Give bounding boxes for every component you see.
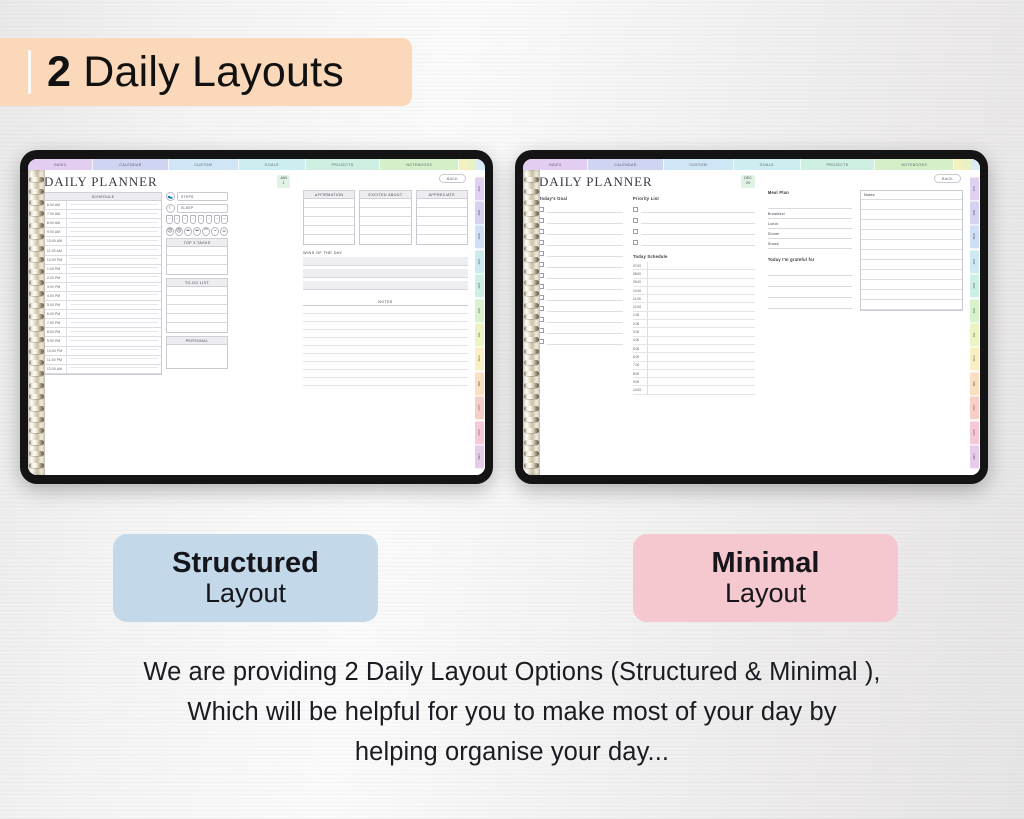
today-schedule-row[interactable]: 08.00 [633,270,755,278]
excited-about-rows[interactable] [359,199,411,245]
today-schedule-row[interactable]: 11.00 [633,295,755,303]
excited-about-row[interactable] [360,217,410,226]
schedule-write-line[interactable] [70,222,158,223]
grateful-line[interactable] [768,276,852,287]
schedule-write-line[interactable] [70,204,158,205]
tab-custom[interactable]: CUSTOM [169,159,239,170]
todays-goal-row[interactable] [539,204,623,215]
affirmation-rows[interactable] [303,199,355,245]
caption-paragraph: We are providing 2 Daily Layout Options … [0,652,1024,772]
today-schedule-time: 07.00 [633,262,648,269]
today-schedule-time: 1.00 [633,312,648,319]
today-schedule-row[interactable]: 10.00 [633,386,755,394]
schedule-write-line[interactable] [70,213,158,214]
today-schedule-time: 12.00 [633,303,648,310]
sleep-label[interactable]: SLEEP [177,204,228,213]
title-rest: Daily Layouts [71,48,344,96]
month-tab-dec[interactable]: DEC [475,445,484,468]
write-line[interactable] [547,295,623,301]
notes-line-minimal[interactable] [861,230,962,240]
schedule-row[interactable]: 10:00 PM [45,347,161,356]
grateful-line[interactable] [768,265,852,276]
excited-about-row[interactable] [360,226,410,235]
schedule-time: 10:00 PM [45,347,67,355]
write-line[interactable] [547,328,623,334]
write-line[interactable] [547,306,623,312]
schedule-write-line[interactable] [70,276,158,277]
write-line[interactable] [547,229,623,235]
notes-line[interactable] [303,314,468,322]
meal-lunch[interactable]: Lunch [768,219,852,229]
schedule-write-line[interactable] [70,322,158,323]
water-glass-icon[interactable] [182,215,189,224]
today-schedule-row[interactable]: 7.00 [633,362,755,370]
notes-rows[interactable] [303,306,468,386]
excited-about-row[interactable] [360,208,410,217]
meal-plan-top-line[interactable] [768,198,852,209]
today-schedule-time: 5.00 [633,345,648,352]
today-schedule-time: 09.00 [633,279,648,286]
excited-about-row[interactable] [360,199,410,208]
appreciate-row[interactable] [417,199,467,208]
notes-line-minimal[interactable] [861,240,962,250]
todays-goal-block: Today's Goal [539,196,623,475]
schedule-time: 4:00 PM [45,292,67,300]
checkbox[interactable] [633,218,638,223]
priority-list-rows[interactable] [633,204,755,248]
mood-face-icon[interactable]: ☺ [220,227,228,236]
todays-goal-row[interactable] [539,336,623,347]
spiral-ring [524,314,539,319]
appreciate-row[interactable] [417,217,467,226]
today-schedule-time: 9.00 [633,378,648,385]
appreciate-row[interactable] [417,226,467,235]
page-body-minimal: DAILY PLANNER DEC 29 Today's Goal Priori… [523,170,980,475]
todays-goal-row[interactable] [539,314,623,325]
notes-line[interactable] [303,378,468,386]
back-button[interactable]: BACK [439,174,466,183]
today-schedule-row[interactable]: 10.00 [633,287,755,295]
checkbox[interactable] [633,207,638,212]
schedule-row[interactable]: 2:00 PM [45,274,161,283]
mood-face-icon[interactable]: ⌣ [211,227,219,236]
water-glass-icon[interactable] [174,215,181,224]
affirmation-row[interactable] [304,235,354,244]
spiral-ring [29,383,44,388]
notes-line[interactable] [303,338,468,346]
label-minimal-line1: Minimal [712,548,820,579]
month-tab-mar[interactable]: MAR [970,225,979,248]
spiral-ring [29,360,44,365]
today-schedule-row[interactable]: 3.00 [633,328,755,336]
tab-extra-swatches[interactable] [459,159,485,170]
notes-rows-minimal[interactable] [861,200,962,310]
schedule-row[interactable]: 5:00 PM [45,301,161,310]
meal-dinner[interactable]: Dinner [768,229,852,239]
schedule-row[interactable]: 1:00 PM [45,265,161,274]
today-schedule-row[interactable]: 9.00 [633,378,755,386]
schedule-row[interactable]: 9:00 AM [45,228,161,237]
schedule-row[interactable]: 6:00 AM [45,201,161,210]
tab-goals-minimal[interactable]: GOALS [734,159,801,170]
tab-calendar[interactable]: CALENDAR [93,159,168,170]
page-title-banner: 2 Daily Layouts [0,38,412,106]
appreciate-row[interactable] [417,235,467,244]
month-tab-sep[interactable]: SEP [970,372,979,395]
month-tab-aug[interactable]: AUG [970,347,979,370]
today-schedule-row[interactable]: 1.00 [633,312,755,320]
schedule-write-line[interactable] [70,267,158,268]
spiral-ring [524,406,539,411]
schedule-time: 9:00 AM [45,228,67,236]
mood-face-icon[interactable]: ☹ [175,227,183,236]
write-line[interactable] [547,262,623,268]
tab-projects[interactable]: PROJECTS [306,159,381,170]
tab-extra-swatches-minimal[interactable] [954,159,980,170]
label-structured-layout: Structured Layout [113,534,378,622]
notes-line[interactable] [303,346,468,354]
notes-line[interactable] [303,370,468,378]
spiral-ring [29,177,44,182]
schedule-row[interactable]: 3:00 PM [45,283,161,292]
spiral-ring [524,223,539,228]
tab-index[interactable]: INDEX [28,159,93,170]
schedule-row[interactable]: 7:00 AM [45,210,161,219]
schedule-time: 9:00 PM [45,337,67,345]
grateful-header: Today I'm grateful for [768,257,852,262]
schedule-rows[interactable]: 6:00 AM7:00 AM8:00 AM9:00 AM10:00 AM11:0… [44,201,162,375]
month-tab-jul[interactable]: JUL [970,323,979,346]
month-tab-feb[interactable]: FEB [970,201,979,224]
month-tab-nov[interactable]: NOV [970,421,979,444]
tab-goals[interactable]: GOALS [239,159,306,170]
water-glass-icon[interactable] [166,215,173,224]
schedule-write-line[interactable] [70,349,158,350]
paper-header-minimal: DAILY PLANNER DEC 29 [539,175,755,188]
notes-box[interactable]: Notes [860,190,963,311]
write-line[interactable] [547,240,623,246]
todo-row[interactable] [167,323,227,332]
meal-breakfast[interactable]: Breakfast [768,209,852,219]
todays-goal-rows[interactable] [539,204,623,347]
wins-row[interactable] [303,269,468,278]
tab-index-minimal[interactable]: INDEX [523,159,588,170]
todo-row[interactable] [167,287,227,296]
write-line[interactable] [547,284,623,290]
schedule-row[interactable]: 11:00 PM [45,356,161,365]
write-line[interactable] [547,218,623,224]
affirmation-header: AFFIRMATION [303,190,355,199]
month-tab-sep[interactable]: SEP [475,372,484,395]
schedule-write-line[interactable] [70,240,158,241]
grateful-line[interactable] [768,298,852,309]
top-tab-strip-structured[interactable]: INDEX CALENDAR CUSTOM GOALS PROJECTS NOT… [28,159,485,170]
schedule-write-line[interactable] [70,249,158,250]
spiral-ring [524,440,539,445]
month-tab-apr[interactable]: APR [475,250,484,273]
month-tab-apr[interactable]: APR [970,250,979,273]
tab-calendar-minimal[interactable]: CALENDAR [588,159,663,170]
write-line[interactable] [547,207,623,213]
checkbox[interactable] [633,229,638,234]
schedule-row[interactable]: 6:00 PM [45,310,161,319]
mood-face-icon[interactable]: °° [202,227,210,236]
today-schedule-row[interactable]: 07.00 [633,262,755,270]
water-glass-icon[interactable] [214,215,221,224]
today-schedule-rows[interactable]: 07.0008.0009.0010.0011.0012.001.002.003.… [633,262,755,395]
today-schedule-row[interactable]: 6.00 [633,353,755,361]
write-line[interactable] [641,218,755,224]
todays-goal-row[interactable] [539,259,623,270]
spiral-ring [29,314,44,319]
schedule-header: SCHEDULE [44,192,162,201]
month-tab-feb[interactable]: FEB [475,201,484,224]
spiral-ring [524,234,539,239]
notes-block-minimal: Notes [860,190,963,311]
top3-task-row[interactable] [167,247,227,256]
top3-task-row[interactable] [167,265,227,274]
mood-face-icon[interactable]: ☹ [166,227,174,236]
spiral-ring [29,223,44,228]
schedule-row[interactable]: 7:00 PM [45,319,161,328]
tab-notebooks-minimal[interactable]: NOTEBOOKS [875,159,954,170]
todo-row[interactable] [167,314,227,323]
todays-goal-row[interactable] [539,281,623,292]
today-schedule-time: 08.00 [633,270,648,277]
write-line[interactable] [641,207,755,213]
date-badge[interactable]: JAN 1 [277,175,290,188]
spiral-ring [29,428,44,433]
steps-tracker[interactable]: 👟 STEPS [166,192,228,201]
notes-line[interactable] [303,306,468,314]
sleep-tracker[interactable]: ☾ SLEEP [166,204,228,213]
spiral-ring [524,211,539,216]
month-tab-oct[interactable]: OCT [475,396,484,419]
todays-goal-row[interactable] [539,237,623,248]
write-line[interactable] [547,339,623,345]
schedule-write-line[interactable] [70,304,158,305]
write-line[interactable] [641,229,755,235]
spiral-ring [29,349,44,354]
water-glass-icon[interactable] [221,215,228,224]
todays-goal-row[interactable] [539,325,623,336]
appreciate-row[interactable] [417,208,467,217]
paper-header-structured: DAILY PLANNER JAN 1 [44,175,290,188]
top3-task-row[interactable] [167,256,227,265]
date-badge-minimal[interactable]: DEC 29 [741,175,755,188]
todo-row[interactable] [167,296,227,305]
priority-row[interactable] [633,204,755,215]
todo-row[interactable] [167,305,227,314]
grateful-rows[interactable] [768,265,852,309]
notes-line-minimal[interactable] [861,300,962,310]
todays-goal-row[interactable] [539,292,623,303]
notes-line[interactable] [303,322,468,330]
spiral-ring [29,280,44,285]
appreciate-rows[interactable] [416,199,468,245]
schedule-write-line[interactable] [70,358,158,359]
schedule-row[interactable]: 12:00 PM [45,256,161,265]
today-schedule-time: 3.00 [633,328,648,335]
planner-title: DAILY PLANNER [44,175,158,188]
paper-right-minimal: BACK Meal Plan Breakfast Lunch Dinner Sn… [761,170,969,475]
today-schedule-time: 6.00 [633,353,648,360]
schedule-write-line[interactable] [70,331,158,332]
label-minimal-layout: Minimal Layout [633,534,898,622]
todays-goal-row[interactable] [539,215,623,226]
write-line[interactable] [547,273,623,279]
personal-area[interactable] [166,345,228,369]
month-tab-dec[interactable]: DEC [970,445,979,468]
schedule-write-line[interactable] [70,231,158,232]
notes-line-minimal[interactable] [861,280,962,290]
schedule-row[interactable]: 9:00 PM [45,337,161,346]
schedule-row[interactable]: 8:00 AM [45,219,161,228]
water-glass-icon[interactable] [198,215,205,224]
today-schedule-time: 10.00 [633,386,648,393]
meal-plan-block: Meal Plan Breakfast Lunch Dinner Snack T… [768,190,852,311]
schedule-write-line[interactable] [70,294,158,295]
affirmation-row[interactable] [304,199,354,208]
todays-goal-row[interactable] [539,248,623,259]
schedule-write-line[interactable] [70,367,158,368]
notes-line[interactable] [303,354,468,362]
month-tab-aug[interactable]: AUG [475,347,484,370]
write-line[interactable] [641,240,755,246]
tab-notebooks[interactable]: NOTEBOOKS [380,159,459,170]
meal-plan-header: Meal Plan [768,190,852,195]
wins-row[interactable] [303,257,468,266]
priority-row[interactable] [633,226,755,237]
tab-custom-minimal[interactable]: CUSTOM [664,159,734,170]
tracker-column: 👟 STEPS ☾ SLEEP ☹☹••••°°⌣☺ TOP 3 TASKS T… [166,192,228,475]
today-schedule-time: 4.00 [633,337,648,344]
meal-snack[interactable]: Snack [768,239,852,249]
spiral-ring [524,463,539,468]
notes-line-minimal[interactable] [861,200,962,210]
schedule-time: 7:00 AM [45,210,67,218]
notes-line-minimal[interactable] [861,290,962,300]
todo-rows[interactable] [166,287,228,333]
checkbox[interactable] [633,240,638,245]
schedule-write-line[interactable] [70,285,158,286]
affirmation-row[interactable] [304,217,354,226]
notes-line-minimal[interactable] [861,250,962,260]
spiral-ring [524,349,539,354]
month-tab-oct[interactable]: OCT [970,396,979,419]
water-glass-icon[interactable] [206,215,213,224]
month-tab-may[interactable]: MAY [475,274,484,297]
schedule-row[interactable]: 4:00 PM [45,292,161,301]
spiral-ring [524,394,539,399]
affirmation-row[interactable] [304,226,354,235]
shoe-icon: 👟 [166,192,175,201]
today-schedule-row[interactable]: 12.00 [633,303,755,311]
schedule-row[interactable]: 11:00 AM [45,246,161,255]
mood-face-icon[interactable]: •• [184,227,192,236]
today-schedule-row[interactable]: 2.00 [633,320,755,328]
month-tab-jan[interactable]: JAN [475,177,484,200]
water-glass-row[interactable] [166,215,228,224]
month-tab-jul[interactable]: JUL [475,323,484,346]
spiral-ring [29,291,44,296]
steps-label[interactable]: STEPS [177,192,228,201]
todays-goal-row[interactable] [539,270,623,281]
mood-row[interactable]: ☹☹••••°°⌣☺ [166,227,228,236]
screen-minimal: INDEX CALENDAR CUSTOM GOALS PROJECTS NOT… [523,159,980,475]
write-line[interactable] [547,251,623,257]
wins-row[interactable] [303,281,468,290]
month-rail-structured[interactable]: JANFEBMARAPRMAYJUNJULAUGSEPOCTNOVDEC [474,170,485,475]
schedule-row[interactable]: 8:00 PM [45,328,161,337]
priority-row[interactable] [633,215,755,226]
priority-schedule-block: Priority List Today Schedule 07.0008.000… [633,196,755,475]
todays-goal-row[interactable] [539,226,623,237]
top3-header: TOP 3 TASKS [166,238,228,247]
spiral-ring [29,394,44,399]
appreciate-header: APPRECIATE [416,190,468,199]
schedule-row[interactable]: 10:00 AM [45,237,161,246]
notes-line-minimal[interactable] [861,210,962,220]
today-schedule-row[interactable]: 8.00 [633,370,755,378]
today-schedule-row[interactable]: 5.00 [633,345,755,353]
page-title: 2 Daily Layouts [47,48,344,97]
notes-line-minimal[interactable] [861,220,962,230]
water-glass-icon[interactable] [190,215,197,224]
wins-rows[interactable] [303,257,468,290]
spiral-ring [29,211,44,216]
notes-line-minimal[interactable] [861,260,962,270]
notes-line-minimal[interactable] [861,270,962,280]
spiral-ring [524,360,539,365]
mood-face-icon[interactable]: •• [193,227,201,236]
spiral-ring [29,463,44,468]
priority-row[interactable] [633,237,755,248]
schedule-row[interactable]: 12:00 AM [45,365,161,374]
top3-rows[interactable] [166,247,228,275]
month-rail-minimal[interactable]: JANFEBMARAPRMAYJUNJULAUGSEPOCTNOVDEC [969,170,980,475]
month-tab-may[interactable]: MAY [970,274,979,297]
month-tab-jan[interactable]: JAN [970,177,979,200]
today-schedule-time: 10.00 [633,287,648,294]
top-tab-strip-minimal[interactable]: INDEX CALENDAR CUSTOM GOALS PROJECTS NOT… [523,159,980,170]
grateful-line[interactable] [768,287,852,298]
month-tab-jun[interactable]: JUN [970,299,979,322]
excited-about-header: EXCITED ABOUT [359,190,411,199]
write-line[interactable] [547,317,623,323]
spiral-ring [524,428,539,433]
tab-projects-minimal[interactable]: PROJECTS [801,159,876,170]
back-button-minimal[interactable]: BACK [934,174,961,183]
schedule-time: 3:00 PM [45,283,67,291]
title-number: 2 [47,48,71,96]
schedule-write-line[interactable] [70,258,158,259]
today-schedule-row[interactable]: 4.00 [633,337,755,345]
excited-about-row[interactable] [360,235,410,244]
spiral-ring [524,177,539,182]
today-schedule-row[interactable]: 09.00 [633,279,755,287]
notes-line[interactable] [303,362,468,370]
excited-about-column: EXCITED ABOUT [359,190,411,245]
todays-goal-row[interactable] [539,303,623,314]
schedule-write-line[interactable] [70,340,158,341]
month-tab-mar[interactable]: MAR [475,225,484,248]
schedule-write-line[interactable] [70,313,158,314]
notes-line[interactable] [303,330,468,338]
month-tab-nov[interactable]: NOV [475,421,484,444]
month-tab-jun[interactable]: JUN [475,299,484,322]
affirmation-row[interactable] [304,208,354,217]
